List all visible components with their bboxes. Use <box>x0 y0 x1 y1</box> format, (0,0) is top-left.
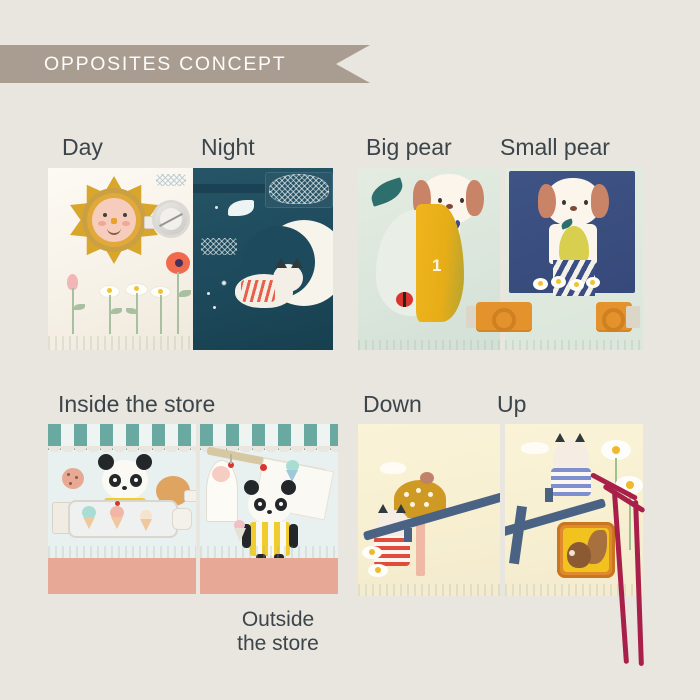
seesaw-handle-left <box>404 528 412 542</box>
floor-inside <box>48 558 196 594</box>
daisy-down-center-2 <box>375 567 381 573</box>
cross-stitch-day <box>156 174 186 186</box>
cat-blanket <box>241 280 275 302</box>
cookie <box>62 468 84 489</box>
label-down: Down <box>363 391 422 418</box>
panda-pupil-left-inside <box>113 478 117 482</box>
cookie-chip-1 <box>67 473 70 476</box>
mushroom-knob <box>420 472 434 484</box>
seesaw-handle-right <box>545 488 553 502</box>
daisy-band <box>531 276 603 294</box>
cat-up-ear-right <box>575 433 585 442</box>
cross-stitch-patch <box>201 238 237 255</box>
panda-arm-right <box>289 524 298 548</box>
panda-ear-right-inside <box>136 454 152 470</box>
bird <box>228 200 254 216</box>
buckle-hole-right <box>602 308 625 332</box>
buckle-tab-right <box>626 306 640 328</box>
cookie-chip-2 <box>75 476 78 479</box>
page-down <box>358 424 500 596</box>
seesaw-pivot <box>509 506 527 565</box>
label-up: Up <box>497 391 526 418</box>
grass-border-outside <box>200 546 338 558</box>
mushroom-dot-3 <box>428 492 433 497</box>
panda-pupil-right-outside <box>279 502 283 506</box>
poppy-stem <box>177 272 179 334</box>
label-big-pear: Big pear <box>366 134 452 161</box>
cat-down-ear-left <box>378 504 388 513</box>
cloud-down <box>380 462 406 474</box>
pear-leaf <box>368 177 407 207</box>
band-daisy-center-1 <box>538 281 543 286</box>
banner-ribbon: OPPOSITES CONCEPT <box>0 45 370 83</box>
grass-border-day <box>48 336 193 350</box>
mushroom-dot-5 <box>424 502 429 507</box>
squirrel-face <box>569 550 575 556</box>
cloud-up <box>521 442 549 454</box>
poppy-center <box>175 259 183 267</box>
daisy-center-2 <box>134 286 139 291</box>
buckle-hole-center <box>492 308 516 332</box>
sun-eye-right <box>123 213 127 217</box>
cat-ear-left <box>275 258 287 268</box>
mushroom-dot-4 <box>410 502 415 507</box>
counter-tab <box>172 508 192 530</box>
grass-border-down <box>358 584 500 596</box>
dog-ear-right <box>466 180 484 216</box>
floor-outside <box>200 558 338 594</box>
star-4 <box>213 306 216 309</box>
label-outside-store-line1: Outside <box>203 608 353 632</box>
cone-tri-vanilla <box>140 519 152 531</box>
poster-canvas: OPPOSITES CONCEPT Day Night Big pear Sma… <box>0 0 700 700</box>
grass-border-pear <box>358 340 500 350</box>
cat-up-ear-left <box>555 433 565 442</box>
spread-pear: 1 <box>358 168 643 350</box>
cone-tri-mint <box>83 517 95 529</box>
label-outside-store: Outside the store <box>203 608 353 657</box>
cone-tri-strawberry <box>111 517 123 529</box>
cat-ear-right <box>291 258 303 268</box>
panda-nose-outside <box>267 510 272 514</box>
dog-ear-left-small <box>538 184 556 218</box>
scoop-handle <box>184 490 196 502</box>
band-daisy-center-2 <box>556 279 561 284</box>
star-2 <box>207 292 210 295</box>
daisy-center-3 <box>158 289 163 294</box>
cat-up-shirt <box>551 468 591 496</box>
spread-day-night <box>48 168 333 350</box>
band-daisy-center-3 <box>574 282 579 287</box>
cat-down-ear-right <box>396 504 406 513</box>
hanging-string-1 <box>230 454 232 464</box>
star-3 <box>221 280 227 286</box>
panda-ear-left-inside <box>98 454 114 470</box>
sleeping-cat-head <box>273 264 303 292</box>
daisy-up-center-2 <box>626 481 634 489</box>
daisy-stem-1 <box>109 295 111 334</box>
page-night <box>193 168 333 350</box>
label-day: Day <box>62 134 103 161</box>
dog-ear-right-small <box>591 184 609 218</box>
band-daisy-center-4 <box>590 280 595 285</box>
ladybug-line <box>403 292 406 307</box>
panda-pupil-right-inside <box>134 478 138 482</box>
cross-stitch-cloud <box>269 174 329 204</box>
star-1 <box>215 206 218 209</box>
dog-eye-left <box>438 198 442 203</box>
dog-eye-right-small <box>584 200 588 205</box>
page-outside-store <box>200 424 338 594</box>
daisy-up-center-1 <box>612 446 620 454</box>
banner-title: OPPOSITES CONCEPT <box>0 53 286 76</box>
daisy-leaf-2 <box>126 308 137 314</box>
cone-tag-ball <box>212 466 230 482</box>
sun-cheek-left <box>98 221 106 226</box>
label-outside-store-line2: the store <box>203 632 353 656</box>
mushroom-dot-2 <box>416 488 421 493</box>
hanging-ball <box>260 464 267 471</box>
daisy-leaf-1 <box>111 308 122 314</box>
sun-cheek-right <box>122 221 130 226</box>
page-inside-store <box>48 424 196 594</box>
dog-eye-left-small <box>562 200 566 205</box>
sun-eye-left <box>103 213 107 217</box>
sundae-cup <box>234 528 246 542</box>
mushroom-dot-1 <box>404 492 409 497</box>
daisy-down-center-1 <box>369 549 375 555</box>
spread-down-up <box>358 424 643 596</box>
grass-border-small-pear <box>505 340 643 350</box>
label-night: Night <box>201 134 255 161</box>
daisy-center-1 <box>107 288 112 293</box>
cookie-chip-3 <box>69 482 72 485</box>
dog-eye-right <box>460 198 464 203</box>
sun-nose <box>111 218 117 224</box>
cherry <box>115 501 120 506</box>
panda-pupil-left-outside <box>258 502 262 506</box>
poppy-leaf <box>179 290 191 297</box>
dog-nose-small <box>570 206 577 211</box>
panda-ear-left-outside <box>244 480 259 495</box>
page-day <box>48 168 193 350</box>
panda-ear-right-outside <box>281 480 296 495</box>
panda-nose-inside <box>122 486 127 490</box>
pear-number: 1 <box>432 256 441 276</box>
spread-store <box>48 424 338 594</box>
grass-border-inside <box>48 546 196 558</box>
daisy-stem-3 <box>160 295 162 334</box>
label-inside-store: Inside the store <box>58 391 215 418</box>
tulip-leaf <box>74 304 85 310</box>
label-small-pear: Small pear <box>500 134 610 161</box>
tulip-stem <box>72 288 74 334</box>
